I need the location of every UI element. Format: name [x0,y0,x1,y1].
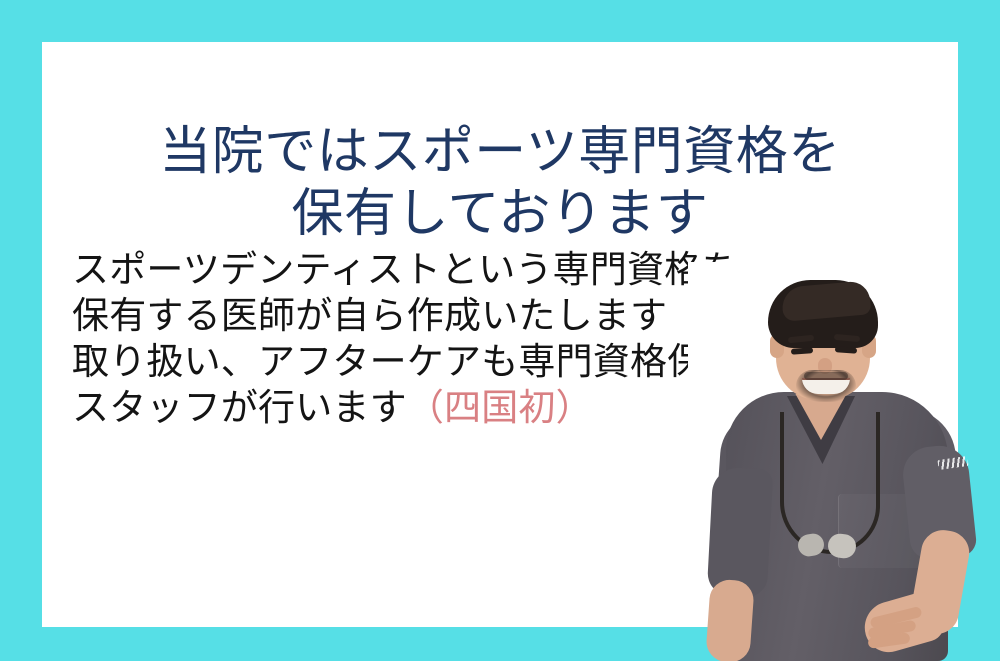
page-title: 当院ではスポーツ専門資格を 保有しております [42,121,958,245]
shikoku-first-badge: （四国初） [407,387,593,428]
body-line-4-main: スタッフが行います [72,387,407,428]
left-sleeve-shape [707,467,774,598]
loupe-cord-shape [780,412,880,554]
left-forearm-shape [705,579,755,661]
dentist-photo [688,262,1000,661]
promo-slide: 当院ではスポーツ専門資格を 保有しております スポーツデンティストという専門資格… [0,0,1000,661]
mustache-shape [804,372,848,380]
dentist-figure [688,262,1000,661]
